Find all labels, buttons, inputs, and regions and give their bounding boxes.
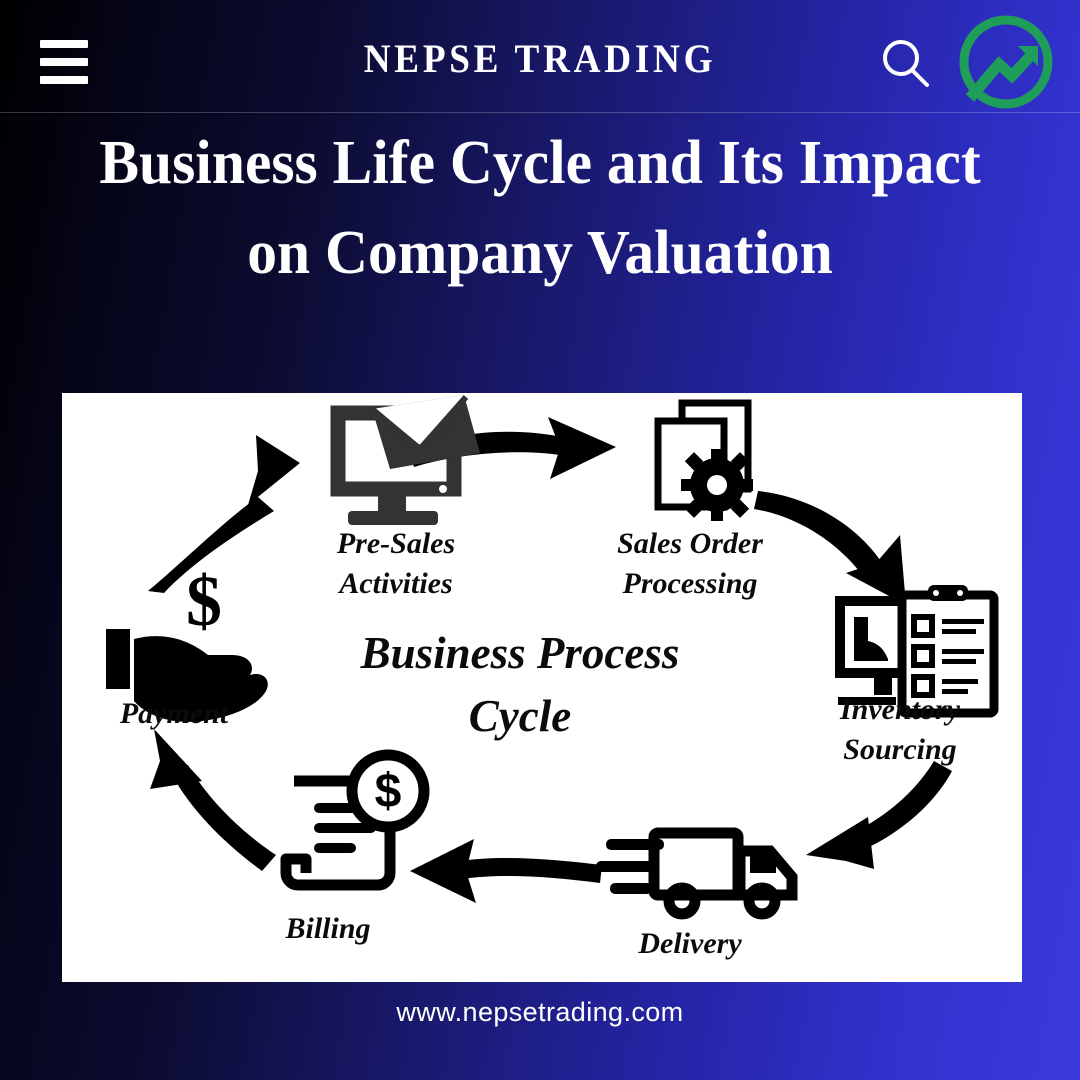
icon-documents-with-gear [658, 403, 753, 521]
arrow-payment-to-pre-sales [148, 435, 300, 593]
svg-text:$: $ [375, 765, 402, 818]
icon-invoice-with-dollar: $ [286, 755, 424, 885]
icon-delivery-truck [596, 833, 792, 914]
node-label-pre-sales-line1: Pre-Sales [336, 527, 455, 560]
svg-text:$: $ [186, 561, 222, 641]
business-process-cycle-diagram: Pre-Sales Activities [62, 393, 1022, 982]
diagram-center-title-line2: Cycle [469, 691, 571, 741]
node-label-inventory-line1: Inventory [839, 693, 961, 726]
node-label-delivery: Delivery [637, 927, 742, 960]
arrow-billing-to-payment [150, 729, 276, 871]
arrow-delivery-to-billing [410, 839, 602, 903]
node-label-inventory-line2: Sourcing [843, 733, 956, 766]
social-post-canvas: NEPSE TRADING Business Life Cycle and It… [0, 0, 1080, 1080]
nepse-trading-logo-icon[interactable] [950, 12, 1062, 112]
diagram-center-title-line1: Business Process [360, 628, 680, 678]
node-label-payment: Payment [119, 697, 230, 730]
node-label-pre-sales-line2: Activities [337, 567, 452, 600]
page-title: Business Life Cycle and Its Impact on Co… [70, 118, 1011, 298]
site-header: NEPSE TRADING [0, 0, 1080, 113]
node-label-sales-order-line1: Sales Order [617, 527, 763, 560]
icon-monitor-with-envelope [338, 395, 480, 525]
site-url[interactable]: www.nepsetrading.com [0, 997, 1080, 1028]
arrow-inventory-to-delivery [806, 761, 952, 869]
node-label-billing: Billing [284, 912, 370, 945]
header-divider [0, 112, 1080, 113]
arrow-sales-order-to-inventory [754, 491, 906, 605]
node-label-sales-order-line2: Processing [622, 567, 758, 600]
search-icon[interactable] [876, 34, 936, 94]
